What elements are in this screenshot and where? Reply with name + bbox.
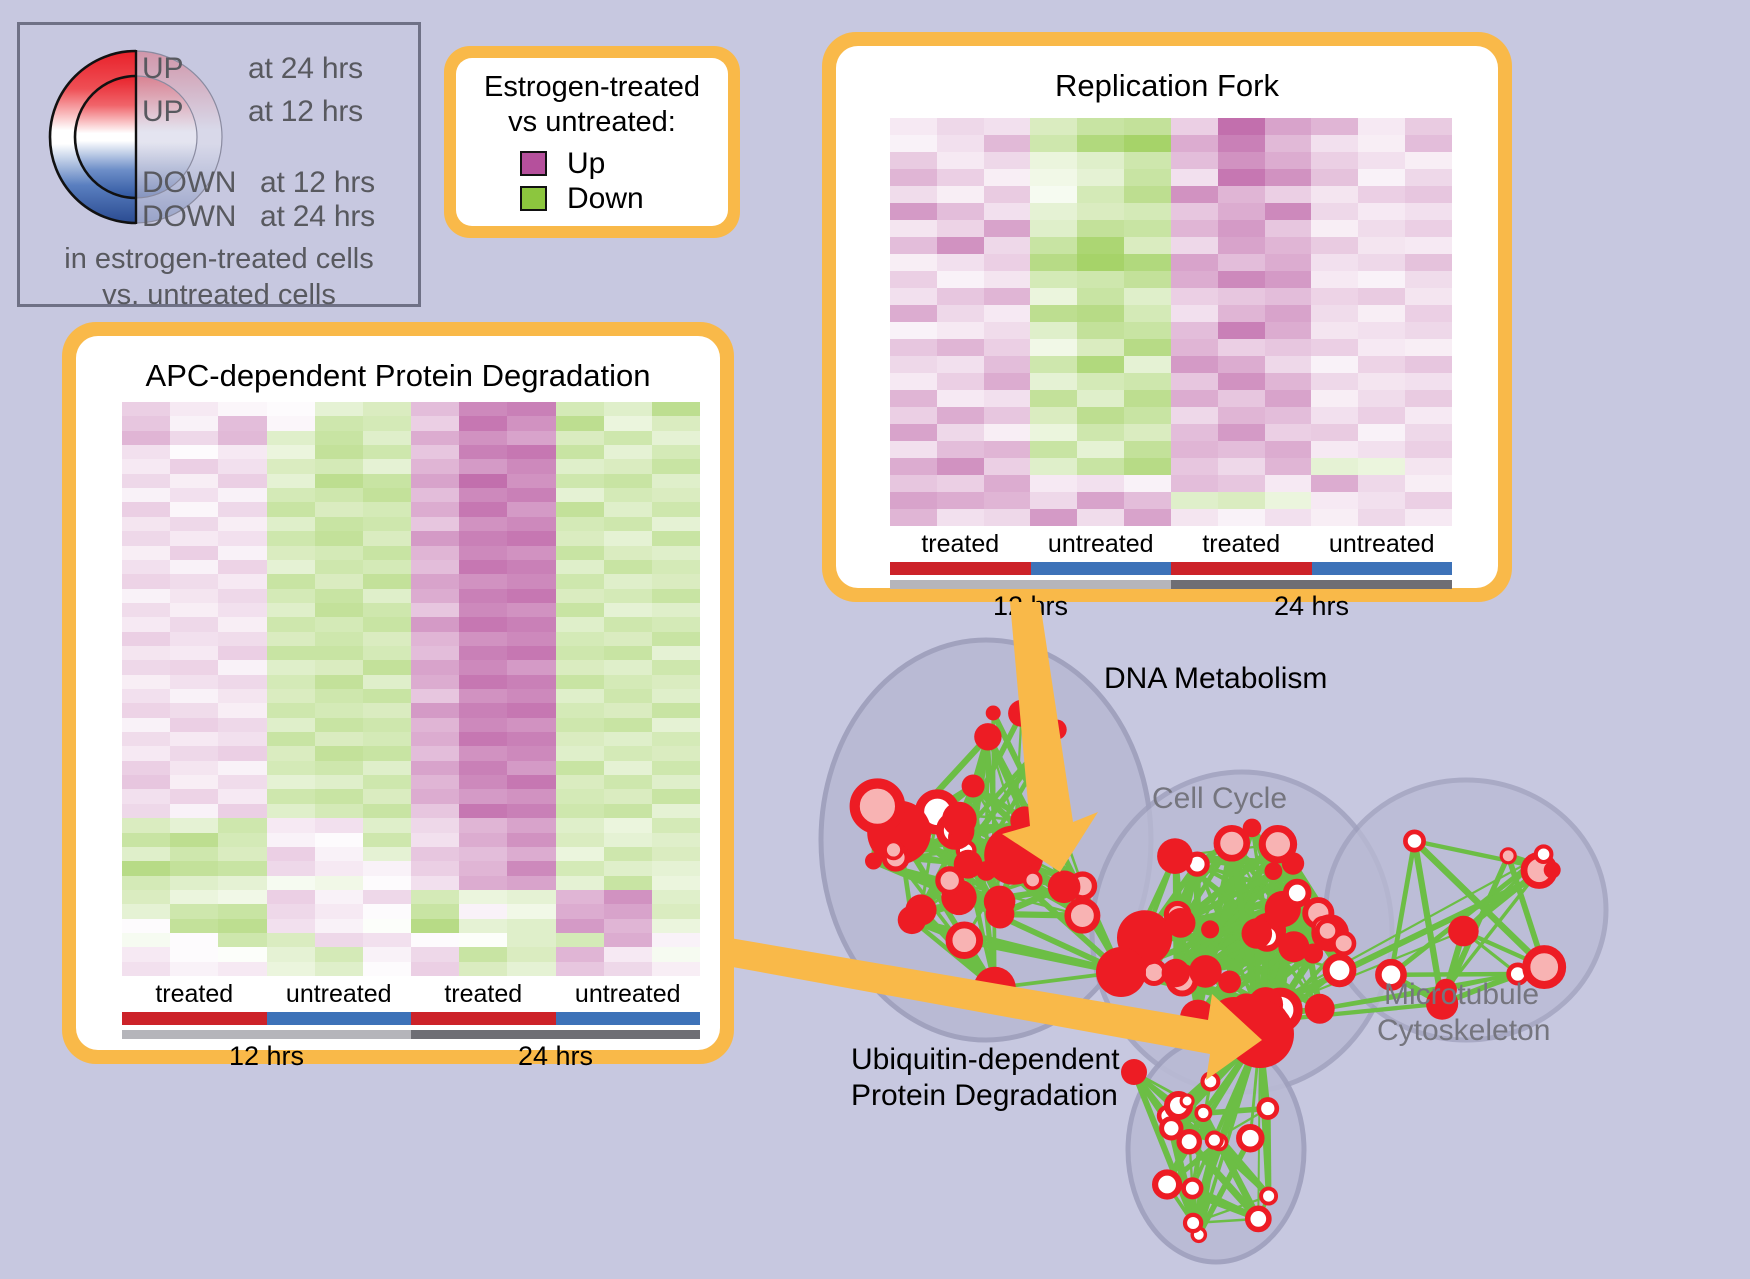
network-node [1047,720,1067,740]
heatmap-cell [1265,135,1312,152]
heatmap-cell [411,847,459,861]
heatmap-cell [984,339,1031,356]
heatmap-cell [267,890,315,904]
heatmap-cell [652,947,700,961]
heatmap-cell [411,546,459,560]
heatmap-cell [652,732,700,746]
heatmap-cell [1171,135,1218,152]
heatmap-cell [890,492,937,509]
replication-fork-panel-inner: Replication Fork treated untreated treat… [836,46,1498,588]
heatmap-cell [315,431,363,445]
heatmap-cell [1265,424,1312,441]
heatmap-cell [984,424,1031,441]
heatmap-cell [1358,339,1405,356]
heatmap-cell [604,833,652,847]
heatmap-cell [1077,424,1124,441]
heatmap-cell [411,603,459,617]
heatmap-cell [890,390,937,407]
network-node [1179,1132,1199,1152]
heatmap-cell [218,574,266,588]
heatmap-cell [507,818,555,832]
heatmap-cell [459,416,507,430]
heatmap-cell [411,818,459,832]
heatmap-cell [411,488,459,502]
heatmap-cell [218,517,266,531]
heatmap-cell [218,876,266,890]
heatmap-cell [556,847,604,861]
heatmap-cell [315,919,363,933]
heatmap-cell [363,531,411,545]
heatmap-cell [937,356,984,373]
heatmap-cell [170,833,218,847]
heatmap-cell [507,703,555,717]
heatmap-cell [363,517,411,531]
heatmap-cell [1030,186,1077,203]
heatmap-cell [1030,152,1077,169]
heatmap-cell [1265,390,1312,407]
heatmap-cell [363,660,411,674]
heatmap-cell [315,789,363,803]
heatmap-cell [984,407,1031,424]
figure-canvas: UP at 24 hrs UP at 12 hrs DOWN at 12 hrs… [0,0,1750,1279]
color-key-footer-line2: vs. untreated cells [20,277,418,313]
heatmap-cell [1358,407,1405,424]
heatmap-cell [1311,441,1358,458]
network-node [1259,1100,1277,1118]
heatmap-cell [122,560,170,574]
heatmap-cell [1077,509,1124,526]
heatmap-cell [411,560,459,574]
legend-item-up: Up [520,146,644,181]
heatmap-cell [218,947,266,961]
heatmap-cell [1171,271,1218,288]
heatmap-cell [459,718,507,732]
heatmap-cell [1077,118,1124,135]
heatmap-cell [267,689,315,703]
heatmap-cell [411,718,459,732]
heatmap-cell [937,475,984,492]
heatmap-cell [652,675,700,689]
heatmap-cell [315,904,363,918]
heatmap-cell [1218,220,1265,237]
heatmap-cell [1405,288,1452,305]
heatmap-cell [122,689,170,703]
heatmap-cell [170,589,218,603]
cluster-label-cytoskeleton: Cytoskeleton [1377,1014,1550,1048]
heatmap-cell [1077,407,1124,424]
heatmap-cell [937,305,984,322]
heatmap-cell [459,675,507,689]
network-node [1162,959,1190,987]
heatmap-cell [459,761,507,775]
heatmap-cell [652,660,700,674]
heatmap-cell [218,775,266,789]
heatmap-cell [652,804,700,818]
group-bar-untreated-24 [1312,562,1453,575]
heatmap-cell [411,589,459,603]
heatmap-cell [1311,407,1358,424]
heatmap-cell [122,861,170,875]
group-name: treated [122,980,267,1009]
heatmap-cell [604,517,652,531]
heatmap-cell [122,732,170,746]
heatmap-cell [507,531,555,545]
heatmap-cell [1358,152,1405,169]
heatmap-cell [363,589,411,603]
heatmap-cell [315,746,363,760]
heatmap-cell [604,416,652,430]
apc-degradation-axis: treated untreated treated untreated 12 h [122,980,700,1072]
heatmap-cell [604,459,652,473]
heatmap-cell [315,646,363,660]
heatmap-cell [1030,390,1077,407]
network-node [1305,994,1335,1024]
heatmap-cell [652,933,700,947]
replication-fork-axis: treated untreated treated untreated 12 h [890,530,1452,622]
network-node [1048,871,1081,904]
heatmap-cell [411,517,459,531]
heatmap-cell [937,254,984,271]
heatmap-cell [937,492,984,509]
heatmap-cell [122,431,170,445]
heatmap-cell [652,617,700,631]
heatmap-cell [652,632,700,646]
heatmap-cell [1311,203,1358,220]
heatmap-cell [1077,305,1124,322]
heatmap-cell [507,861,555,875]
legend-title-line1: Estrogen-treated [456,70,728,105]
heatmap-cell [267,488,315,502]
heatmap-cell [267,445,315,459]
heatmap-cell [218,589,266,603]
heatmap-cell [267,632,315,646]
heatmap-cell [218,904,266,918]
heatmap-cell [411,632,459,646]
heatmap-cell [507,560,555,574]
heatmap-cell [1077,135,1124,152]
heatmap-cell [604,603,652,617]
heatmap-cell [890,339,937,356]
heatmap-cell [556,933,604,947]
heatmap-cell [556,818,604,832]
heatmap-cell [1405,169,1452,186]
heatmap-cell [1311,305,1358,322]
heatmap-cell [267,703,315,717]
heatmap-cell [604,718,652,732]
cluster-label-ubiquitin-line2: Protein Degradation [851,1079,1118,1113]
heatmap-cell [363,488,411,502]
heatmap-cell [363,546,411,560]
heatmap-cell [604,904,652,918]
heatmap-cell [267,474,315,488]
heatmap-cell [459,603,507,617]
heatmap-cell [122,761,170,775]
heatmap-cell [556,589,604,603]
heatmap-cell [1030,339,1077,356]
heatmap-cell [1030,288,1077,305]
heatmap-cell [170,646,218,660]
heatmap-cell [122,818,170,832]
pathway-network-graph [790,620,1750,1279]
heatmap-cell [267,947,315,961]
heatmap-cell [315,761,363,775]
heatmap-cell [1124,390,1171,407]
heatmap-cell [363,833,411,847]
heatmap-cell [1311,475,1358,492]
heatmap-cell [937,424,984,441]
network-node [949,925,980,956]
heatmap-cell [459,445,507,459]
heatmap-cell [937,169,984,186]
heatmap-cell [411,675,459,689]
heatmap-cell [170,847,218,861]
heatmap-cell [1218,407,1265,424]
heatmap-cell [170,517,218,531]
heatmap-cell [652,890,700,904]
heatmap-cell [1124,441,1171,458]
heatmap-cell [1171,152,1218,169]
heatmap-cell [937,339,984,356]
heatmap-cell [1405,237,1452,254]
heatmap-cell [604,703,652,717]
heatmap-cell [1218,509,1265,526]
heatmap-cell [984,186,1031,203]
heatmap-cell [363,646,411,660]
heatmap-cell [459,502,507,516]
heatmap-cell [1265,220,1312,237]
network-node [1017,807,1054,844]
heatmap-cell [411,431,459,445]
network-node [1207,1133,1222,1148]
heatmap-cell [556,603,604,617]
heatmap-cell [363,502,411,516]
heatmap-cell [604,646,652,660]
heatmap-cell [1405,254,1452,271]
replication-fork-time-names: 12 hrs 24 hrs [890,591,1452,622]
heatmap-cell [1358,118,1405,135]
heatmap-cell [122,574,170,588]
heatmap-cell [218,732,266,746]
heatmap-cell [315,502,363,516]
heatmap-cell [1171,390,1218,407]
heatmap-cell [1311,492,1358,509]
heatmap-cell [1171,288,1218,305]
heatmap-cell [1171,220,1218,237]
heatmap-cell [604,861,652,875]
heatmap-cell [984,152,1031,169]
network-node [1011,842,1037,868]
heatmap-cell [267,933,315,947]
heatmap-cell [652,775,700,789]
heatmap-cell [1358,475,1405,492]
legend-label-down: Down [567,184,644,214]
heatmap-cell [1171,441,1218,458]
heatmap-cell [1124,356,1171,373]
group-name: untreated [556,980,701,1009]
heatmap-cell [267,589,315,603]
heatmap-cell [507,833,555,847]
apc-group-names: treated untreated treated untreated [122,980,700,1009]
heatmap-cell [459,646,507,660]
heatmap-cell [604,933,652,947]
heatmap-cell [507,603,555,617]
heatmap-cell [556,947,604,961]
heatmap-cell [984,305,1031,322]
heatmap-cell [1218,288,1265,305]
heatmap-cell [556,431,604,445]
heatmap-cell [604,402,652,416]
heatmap-cell [459,804,507,818]
heatmap-cell [170,761,218,775]
heatmap-cell [1030,492,1077,509]
heatmap-cell [1358,203,1405,220]
heatmap-cell [267,833,315,847]
heatmap-cell [122,933,170,947]
heatmap-cell [1311,458,1358,475]
heatmap-cell [507,890,555,904]
heatmap-cell [1124,254,1171,271]
heatmap-cell [1265,305,1312,322]
heatmap-cell [652,962,700,976]
heatmap-cell [1171,118,1218,135]
heatmap-cell [267,502,315,516]
heatmap-cell [652,445,700,459]
heatmap-cell [556,660,604,674]
heatmap-cell [315,890,363,904]
network-node [984,886,1016,918]
heatmap-cell [984,509,1031,526]
time-bar-24hrs [1171,580,1452,589]
heatmap-cell [1030,509,1077,526]
heatmap-cell [170,804,218,818]
heatmap-cell [315,703,363,717]
heatmap-cell [411,746,459,760]
network-node [905,894,936,925]
heatmap-cell [170,560,218,574]
heatmap-cell [218,861,266,875]
heatmap-cell [1218,373,1265,390]
heatmap-cell [315,675,363,689]
heatmap-cell [459,746,507,760]
heatmap-cell [1311,118,1358,135]
heatmap-cell [937,271,984,288]
heatmap-cell [652,474,700,488]
heatmap-cell [411,660,459,674]
apc-degradation-panel-inner: APC-dependent Protein Degradation treate… [76,336,720,1050]
heatmap-cell [1171,407,1218,424]
heatmap-cell [267,416,315,430]
heatmap-cell [1171,203,1218,220]
network-node [1217,828,1247,858]
heatmap-cell [1218,271,1265,288]
heatmap-cell [937,237,984,254]
heatmap-cell [507,445,555,459]
heatmap-cell [122,646,170,660]
heatmap-cell [556,904,604,918]
heatmap-cell [1265,492,1312,509]
heatmap-cell [315,933,363,947]
heatmap-cell [507,589,555,603]
heatmap-cell [890,118,937,135]
heatmap-cell [984,288,1031,305]
heatmap-cell [1405,271,1452,288]
heatmap-cell [363,689,411,703]
heatmap-cell [1358,441,1405,458]
heatmap-cell [604,876,652,890]
heatmap-cell [1218,305,1265,322]
heatmap-cell [604,732,652,746]
legend-swatch-down [520,186,547,211]
heatmap-cell [1124,135,1171,152]
heatmap-cell [604,546,652,560]
heatmap-cell [218,933,266,947]
heatmap-cell [984,237,1031,254]
network-node [1536,846,1552,862]
heatmap-cell [507,933,555,947]
heatmap-cell [890,475,937,492]
heatmap-cell [507,488,555,502]
heatmap-cell [363,675,411,689]
heatmap-cell [411,947,459,961]
heatmap-cell [652,789,700,803]
heatmap-cell [411,416,459,430]
heatmap-cell [363,474,411,488]
heatmap-cell [604,789,652,803]
network-node [1025,872,1041,888]
color-key-up-12-label: UP [142,95,183,129]
network-node [1184,1180,1202,1198]
heatmap-cell [1218,356,1265,373]
network-node [1286,882,1309,905]
heatmap-cell [363,789,411,803]
heatmap-cell [1358,390,1405,407]
heatmap-cell [507,789,555,803]
heatmap-cell [1030,203,1077,220]
heatmap-cell [984,271,1031,288]
heatmap-cell [1265,356,1312,373]
heatmap-cell [267,818,315,832]
heatmap-cell [1405,492,1452,509]
group-bar-untreated-24 [556,1012,701,1025]
heatmap-cell [170,617,218,631]
heatmap-cell [315,847,363,861]
heatmap-cell [1405,475,1452,492]
heatmap-cell [315,459,363,473]
heatmap-cell [890,441,937,458]
heatmap-cell [170,962,218,976]
heatmap-cell [1218,152,1265,169]
heatmap-cell [267,517,315,531]
heatmap-cell [1124,373,1171,390]
group-bar-treated-12 [890,562,1031,575]
heatmap-cell [1218,186,1265,203]
heatmap-cell [1265,475,1312,492]
heatmap-cell [1358,237,1405,254]
heatmap-cell [604,847,652,861]
heatmap-cell [267,789,315,803]
heatmap-cell [984,118,1031,135]
heatmap-cell [218,660,266,674]
heatmap-cell [604,531,652,545]
network-node [976,861,996,881]
heatmap-cell [556,804,604,818]
heatmap-cell [1030,322,1077,339]
heatmap-cell [218,488,266,502]
heatmap-cell [411,962,459,976]
heatmap-cell [1171,305,1218,322]
heatmap-cell [1030,373,1077,390]
heatmap-cell [1077,152,1124,169]
